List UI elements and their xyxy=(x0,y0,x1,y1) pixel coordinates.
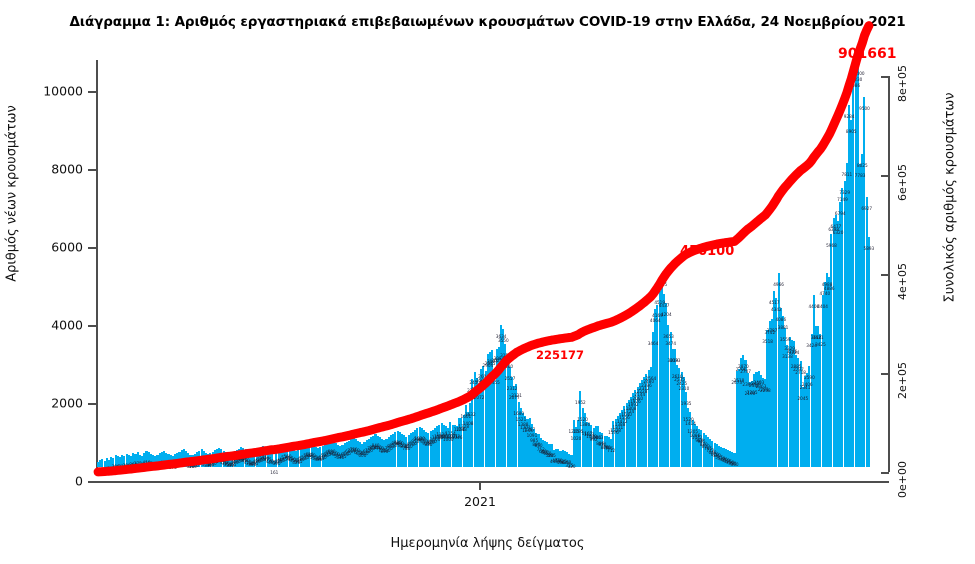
y-axis-left-tick-label: 0 xyxy=(75,474,83,489)
y-axis-left-tick xyxy=(88,247,97,249)
x-axis-tick xyxy=(479,482,481,490)
y-axis-right-title: Συνολικός αριθμός κρουσμάτων xyxy=(943,18,958,378)
cumulative-total-label: 901661 xyxy=(838,46,896,62)
y-axis-left-title: Αριθμός νέων κρουσμάτων xyxy=(5,14,20,374)
cumulative-line-series xyxy=(97,60,870,474)
y-axis-left-tick xyxy=(88,325,97,327)
y-axis-right-tick-label: 8e+05 xyxy=(896,65,909,102)
y-axis-left-tick-label: 8000 xyxy=(51,162,83,177)
y-axis-left-tick-label: 4000 xyxy=(51,318,83,333)
y-axis-right-tick xyxy=(881,274,889,276)
x-axis-spine xyxy=(96,481,889,483)
y-axis-right-tick-label: 4e+05 xyxy=(896,263,909,300)
x-axis-title: Ημερομηνία λήψης δείγματος xyxy=(0,536,975,551)
cumulative-low-label: 225177 xyxy=(536,348,584,362)
plot-area: 1201802101602401902602203002702553102903… xyxy=(97,60,870,474)
y-axis-left-tick xyxy=(88,403,97,405)
cumulative-mid-label: 450100 xyxy=(680,244,734,259)
y-axis-left-tick-label: 10000 xyxy=(43,84,83,99)
y-axis-left-tick-label: 2000 xyxy=(51,396,83,411)
y-axis-right-tick-label: 0e+00 xyxy=(896,461,909,498)
y-axis-right-tick xyxy=(881,373,889,375)
y-axis-left-tick xyxy=(88,91,97,93)
y-axis-right-tick xyxy=(881,175,889,177)
y-axis-right-tick xyxy=(881,76,889,78)
y-axis-right-tick xyxy=(881,472,889,474)
chart-title: Διάγραμμα 1: Αριθμός εργαστηριακά επιβεβ… xyxy=(0,14,975,30)
y-axis-left-tick xyxy=(88,169,97,171)
y-axis-right-tick-label: 2e+05 xyxy=(896,362,909,399)
y-axis-left-tick xyxy=(88,481,97,483)
y-axis-right-tick-label: 6e+05 xyxy=(896,164,909,201)
y-axis-left-tick-label: 6000 xyxy=(51,240,83,255)
x-axis-tick-label: 2021 xyxy=(420,494,540,509)
